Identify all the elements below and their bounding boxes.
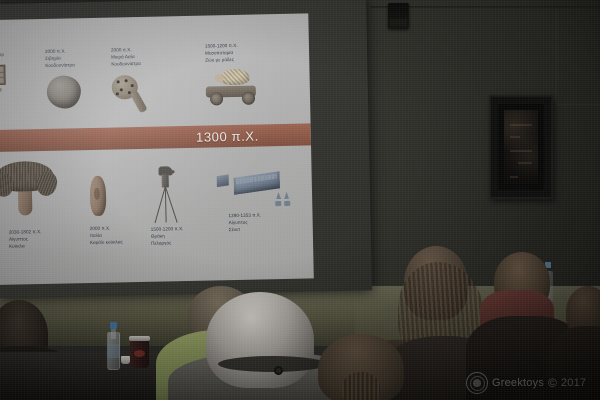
wheeled-animal-toy-icon: [206, 81, 267, 110]
caption-mesopotamia: 1500-1200 π.Χ. Μεσοποταμία Ζώο με ρόδες: [205, 42, 265, 64]
slide-item-siberia: 2000 π.Χ. Σιβηρία Κουδουνίστρα: [45, 48, 81, 108]
royal-game-of-ur-board-icon: [0, 65, 6, 86]
wall-speaker-icon: [388, 3, 409, 29]
coat-collar: [218, 356, 326, 372]
watermark: Greektoys © 2017: [466, 372, 586, 394]
small-cup: [121, 356, 130, 364]
timeline-band: 1300 π.Χ.: [0, 123, 311, 152]
ur-pieces-icon: [0, 88, 6, 93]
doll-head-figurine-icon: [90, 176, 107, 216]
water-bottle: [107, 322, 120, 370]
handled-rattle-icon: [112, 74, 159, 121]
timeline-band-label: 1300 π.Χ.: [196, 128, 259, 144]
lecture-hall-screenshot: της Ουρ 2000 π.Χ. Σιβηρία Κουδουνίστρα 2…: [0, 0, 600, 400]
frame-mat: [498, 104, 544, 190]
copyright-icon: ©: [548, 376, 557, 390]
slide-item-italy-head: 2000 π.Χ. Ιταλία Κεφάλι κούκλας: [90, 175, 123, 246]
caption-egypt-doll: 2030-1802 π.Χ. Αίγυπτος Κούκλα: [9, 229, 57, 251]
coat-button: [274, 366, 283, 375]
framed-poster: [489, 95, 553, 199]
ponytail: [342, 372, 380, 400]
stone-rattle-ball-icon: [47, 75, 82, 109]
projection-screen: της Ουρ 2000 π.Χ. Σιβηρία Κουδουνίστρα 2…: [0, 0, 372, 298]
slide-item-mesopotamia: 1500-1200 π.Χ. Μεσοποταμία Ζώο με ρόδες: [205, 42, 266, 110]
caption-ur: της Ουρ: [0, 52, 5, 59]
slide-item-ur: της Ουρ: [0, 52, 6, 92]
slide-item-thrace: 1500-1200 π.Χ. Θράκη Πελαργός: [149, 168, 195, 248]
slide-item-asia-minor: 2000 π.Χ. Μικρά Ασία Κουδουνίστρα: [111, 47, 159, 122]
caption-thrace: 1500-1200 π.Χ. Θράκη Πελαργός: [151, 226, 195, 248]
watermark-year: 2017: [561, 377, 586, 389]
caption-italy-head: 2000 π.Χ. Ιταλία Κεφάλι κούκλας: [90, 225, 123, 246]
caption-asia-minor: 2000 π.Χ. Μικρά Ασία Κουδουνίστρα: [111, 47, 157, 69]
slide-item-egypt-senet: 1390-1353 π.Χ. Αίγυπτος Σένετ: [226, 168, 293, 234]
egyptian-paddle-doll-icon: [0, 161, 57, 222]
stork-tripod-figure-icon: [149, 168, 194, 225]
gray-haired-person-head: [206, 292, 314, 388]
coffee-cup: [130, 338, 149, 368]
greektoys-circular-logo-icon: [466, 372, 488, 394]
slide-item-egypt-doll: 2030-1802 π.Χ. Αίγυπτος Κούκλα: [0, 161, 57, 251]
caption-siberia: 2000 π.Χ. Σιβηρία Κουδουνίστρα: [45, 48, 80, 69]
watermark-brand: Greektoys: [492, 377, 544, 389]
senet-game-box-icon: [226, 168, 293, 209]
caption-egypt-senet: 1390-1353 π.Χ. Αίγυπτος Σένετ: [228, 212, 292, 234]
presentation-slide: της Ουρ 2000 π.Χ. Σιβηρία Κουδουνίστρα 2…: [0, 13, 314, 285]
wall-panel-edge: [556, 8, 600, 105]
poster-artwork: [504, 110, 538, 184]
